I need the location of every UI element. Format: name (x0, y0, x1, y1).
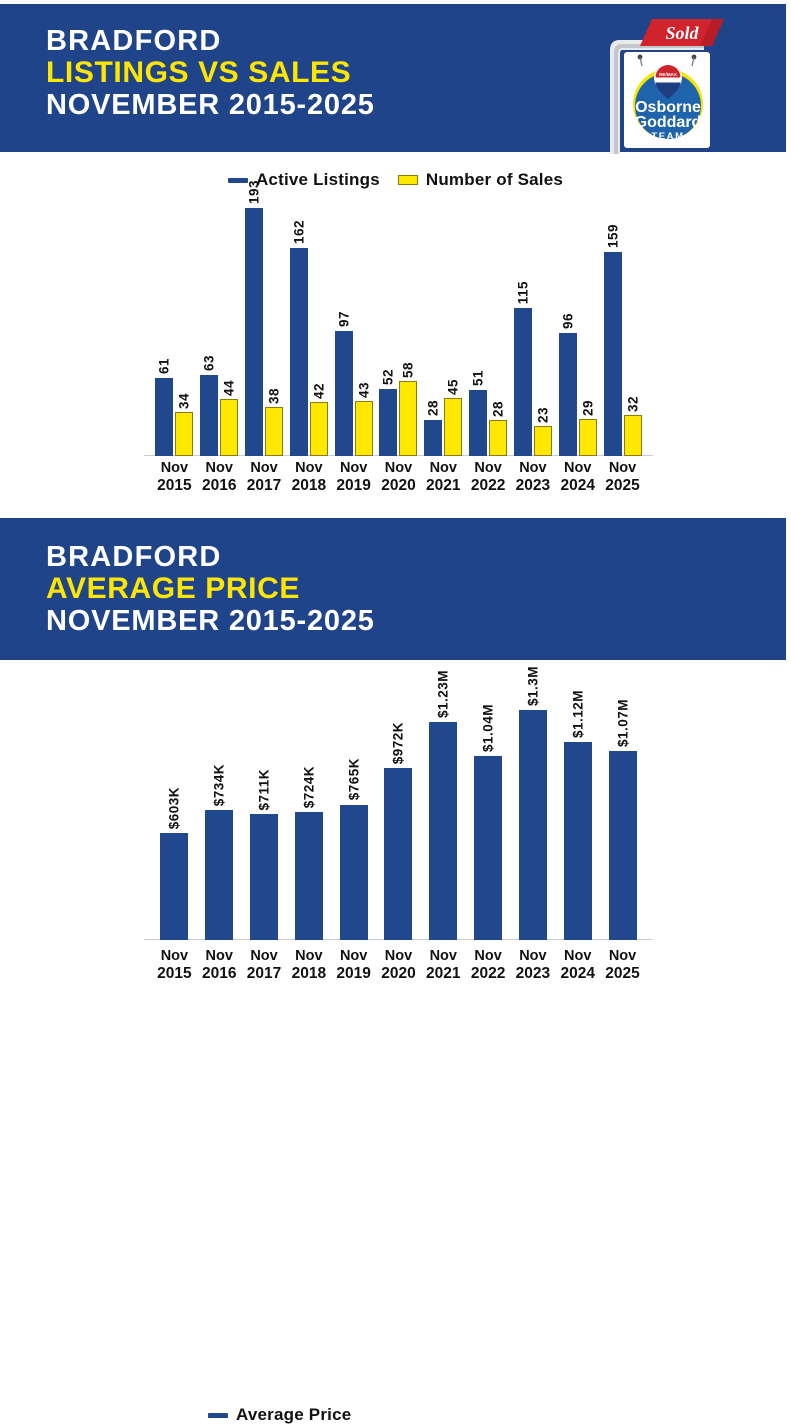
chart1-legend: Active Listings Number of Sales (0, 170, 791, 190)
bar-group: $1.3M (511, 710, 556, 940)
page-title-line1: BRADFORD (46, 26, 375, 57)
bar-group: $734K (197, 710, 242, 940)
bar-primary[interactable]: $1.3M (519, 710, 547, 940)
header-title-group-2: BRADFORD AVERAGE PRICE NOVEMBER 2015-202… (46, 542, 375, 637)
x-axis-tick: Nov2019 (331, 460, 376, 495)
bar-sales[interactable]: 23 (534, 426, 552, 456)
bar-sales[interactable]: 29 (579, 419, 597, 456)
chart1-bar-groups: 6134634419338162429743525828455128115239… (152, 208, 645, 456)
header-title-group-1: BRADFORD LISTINGS VS SALES NOVEMBER 2015… (46, 26, 375, 121)
x-tick-month: Nov (511, 460, 556, 477)
bar-column[interactable]: 159 (604, 208, 622, 456)
x-tick-month: Nov (197, 460, 242, 477)
x-tick-month: Nov (286, 948, 331, 965)
x-tick-month: Nov (286, 460, 331, 477)
x-tick-year: 2020 (376, 965, 421, 983)
bar-column[interactable]: $1.04M (474, 710, 502, 940)
x-tick-year: 2019 (331, 965, 376, 983)
bar-group: $603K (152, 710, 197, 940)
x-tick-year: 2018 (286, 477, 331, 495)
bar-group: 5128 (466, 208, 511, 456)
bar-value-label: 159 (605, 224, 620, 248)
x-tick-year: 2022 (466, 477, 511, 495)
x-axis-tick: Nov2015 (152, 460, 197, 495)
page-title2-line3: NOVEMBER 2015-2025 (46, 606, 375, 637)
chart2-legend: Average Price (208, 1405, 351, 1425)
x-tick-month: Nov (376, 460, 421, 477)
bar-group: 5258 (376, 208, 421, 456)
legend-label-average-price: Average Price (236, 1405, 351, 1425)
bar-value-label: 34 (177, 393, 192, 409)
x-tick-year: 2024 (555, 965, 600, 983)
bar-primary[interactable]: 63 (200, 375, 218, 456)
bar-column[interactable]: 193 (245, 208, 263, 456)
page-title2-line1: BRADFORD (46, 542, 375, 573)
x-tick-year: 2023 (511, 965, 556, 983)
x-tick-month: Nov (242, 948, 287, 965)
bar-column[interactable]: $603K (160, 710, 188, 940)
x-axis-tick: Nov2021 (421, 948, 466, 983)
bar-primary[interactable]: $603K (160, 833, 188, 940)
bar-column[interactable]: $1.07M (609, 710, 637, 940)
bar-value-label: $1.07M (615, 699, 630, 747)
bar-group: 16242 (286, 208, 331, 456)
bar-column[interactable]: 34 (175, 208, 193, 456)
bar-primary[interactable]: $724K (295, 812, 323, 940)
x-tick-year: 2017 (242, 477, 287, 495)
x-axis-tick: Nov2016 (197, 948, 242, 983)
x-tick-month: Nov (466, 948, 511, 965)
bar-primary[interactable]: 96 (559, 333, 577, 456)
bar-value-label: $972K (391, 722, 406, 764)
bar-group: 11523 (511, 208, 556, 456)
bar-sales[interactable]: 28 (489, 420, 507, 456)
bar-column[interactable]: $1.3M (519, 710, 547, 940)
bar-sales[interactable]: 32 (624, 415, 642, 456)
x-tick-month: Nov (197, 948, 242, 965)
legend-swatch-line-icon (208, 1413, 228, 1418)
x-axis-tick: Nov2017 (242, 460, 287, 495)
bar-value-label: 97 (336, 311, 351, 327)
bar-primary[interactable]: 159 (604, 252, 622, 456)
chart-listings-vs-sales: Active Listings Number of Sales 61346344… (0, 152, 791, 510)
bar-column[interactable]: 29 (579, 208, 597, 456)
bar-primary[interactable]: $734K (205, 810, 233, 940)
bar-primary[interactable]: $1.04M (474, 756, 502, 940)
bar-value-label: 63 (202, 355, 217, 371)
x-axis-tick: Nov2017 (242, 948, 287, 983)
bar-value-label: 162 (291, 220, 306, 244)
bar-sales[interactable]: 43 (355, 401, 373, 456)
bar-sales[interactable]: 34 (175, 412, 193, 456)
legend-label-number-of-sales: Number of Sales (426, 170, 563, 190)
x-tick-year: 2016 (197, 477, 242, 495)
chart2-plot-area: $603K$734K$711K$724K$765K$972K$1.23M$1.0… (0, 710, 791, 940)
sold-label: Sold (665, 23, 699, 43)
bar-value-label: $724K (301, 766, 316, 808)
x-tick-month: Nov (511, 948, 556, 965)
bar-column[interactable]: $1.12M (564, 710, 592, 940)
x-axis-tick: Nov2024 (555, 460, 600, 495)
x-axis-tick: Nov2015 (152, 948, 197, 983)
logo-brand-line2: Goddard (635, 114, 702, 131)
bar-primary[interactable]: 51 (469, 390, 487, 456)
bar-value-label: 193 (247, 180, 262, 204)
bar-sales[interactable]: 42 (310, 402, 328, 456)
chart1-x-axis-labels: Nov2015Nov2016Nov2017Nov2018Nov2019Nov20… (152, 460, 645, 495)
bar-column[interactable]: 115 (514, 208, 532, 456)
x-tick-month: Nov (242, 460, 287, 477)
x-tick-year: 2015 (152, 965, 197, 983)
page-title-line3: NOVEMBER 2015-2025 (46, 90, 375, 121)
legend-swatch-box-icon (398, 175, 418, 185)
bar-value-label: 28 (491, 401, 506, 417)
header-band-listings: BRADFORD LISTINGS VS SALES NOVEMBER 2015… (0, 4, 786, 152)
x-tick-year: 2021 (421, 965, 466, 983)
chart2-x-axis-labels: Nov2015Nov2016Nov2017Nov2018Nov2019Nov20… (152, 948, 645, 983)
x-axis-tick: Nov2018 (286, 460, 331, 495)
legend-item-number-of-sales[interactable]: Number of Sales (398, 170, 563, 190)
x-tick-month: Nov (152, 948, 197, 965)
bar-group: 2845 (421, 208, 466, 456)
x-tick-month: Nov (600, 948, 645, 965)
bar-value-label: $1.23M (436, 670, 451, 718)
bar-column[interactable]: 28 (489, 208, 507, 456)
bar-column[interactable]: $724K (295, 710, 323, 940)
osborne-goddard-logo: Sold RE/MAX Osborne Goddard TEAM (600, 16, 730, 156)
bar-column[interactable]: 43 (355, 208, 373, 456)
x-tick-year: 2018 (286, 965, 331, 983)
x-tick-year: 2015 (152, 477, 197, 495)
x-axis-tick: Nov2019 (331, 948, 376, 983)
bar-value-label: 58 (401, 362, 416, 378)
x-axis-tick: Nov2022 (466, 948, 511, 983)
bar-group: $1.12M (555, 710, 600, 940)
bar-column[interactable]: 97 (335, 208, 353, 456)
bar-value-label: $603K (167, 787, 182, 829)
bar-primary[interactable]: $972K (384, 768, 412, 940)
bar-primary[interactable]: 193 (245, 208, 263, 456)
x-tick-year: 2019 (331, 477, 376, 495)
chart2-bar-groups: $603K$734K$711K$724K$765K$972K$1.23M$1.0… (152, 710, 645, 940)
x-tick-year: 2025 (600, 477, 645, 495)
bar-value-label: $734K (212, 764, 227, 806)
bar-column[interactable]: $1.23M (429, 710, 457, 940)
bar-value-label: 115 (515, 281, 530, 304)
bar-group: $724K (286, 710, 331, 940)
bar-primary[interactable]: $765K (340, 805, 368, 940)
bar-sales[interactable]: 38 (265, 407, 283, 456)
bar-value-label: 42 (311, 383, 326, 399)
bar-primary[interactable]: 52 (379, 389, 397, 456)
bar-primary[interactable]: 162 (290, 248, 308, 456)
bar-value-label: 61 (157, 358, 172, 374)
legend-swatch-line-icon (228, 178, 248, 183)
x-axis-tick: Nov2025 (600, 460, 645, 495)
bar-primary[interactable]: 97 (335, 331, 353, 456)
bar-value-label: 52 (381, 369, 396, 385)
legend-label-active-listings: Active Listings (256, 170, 380, 190)
logo-brand-line3: TEAM (651, 131, 684, 142)
bar-primary[interactable]: $1.23M (429, 722, 457, 940)
bar-value-label: $765K (346, 758, 361, 800)
bar-value-label: 44 (222, 380, 237, 396)
x-tick-year: 2022 (466, 965, 511, 983)
header-band-average-price: BRADFORD AVERAGE PRICE NOVEMBER 2015-202… (0, 518, 786, 660)
legend-item-average-price[interactable]: Average Price (208, 1405, 351, 1425)
bar-value-label: 32 (625, 396, 640, 412)
x-tick-month: Nov (555, 460, 600, 477)
bar-primary[interactable]: 28 (424, 420, 442, 456)
x-axis-tick: Nov2025 (600, 948, 645, 983)
bar-column[interactable]: 63 (200, 208, 218, 456)
x-tick-month: Nov (600, 460, 645, 477)
chart1-plot-area: 6134634419338162429743525828455128115239… (0, 208, 791, 456)
bar-value-label: $1.12M (570, 690, 585, 738)
bar-column[interactable]: 51 (469, 208, 487, 456)
x-axis-tick: Nov2023 (511, 948, 556, 983)
bar-group: 6134 (152, 208, 197, 456)
bar-value-label: 45 (446, 379, 461, 395)
x-tick-month: Nov (331, 948, 376, 965)
x-axis-tick: Nov2020 (376, 460, 421, 495)
page-title2-line2: AVERAGE PRICE (46, 573, 375, 605)
bar-group: $1.23M (421, 710, 466, 940)
x-tick-year: 2021 (421, 477, 466, 495)
bar-group: $1.07M (600, 710, 645, 940)
bar-group: $972K (376, 710, 421, 940)
bar-column[interactable]: $972K (384, 710, 412, 940)
x-tick-month: Nov (376, 948, 421, 965)
bar-primary[interactable]: $711K (250, 814, 278, 940)
remax-label: RE/MAX (659, 72, 678, 77)
x-axis-tick: Nov2020 (376, 948, 421, 983)
bar-primary[interactable]: $1.07M (609, 751, 637, 940)
x-axis-tick: Nov2021 (421, 460, 466, 495)
x-tick-month: Nov (152, 460, 197, 477)
x-axis-tick: Nov2016 (197, 460, 242, 495)
bar-group: $1.04M (466, 710, 511, 940)
bar-sales[interactable]: 58 (399, 381, 417, 456)
bar-group: 15932 (600, 208, 645, 456)
bar-sales[interactable]: 44 (220, 399, 238, 456)
x-tick-year: 2023 (511, 477, 556, 495)
bar-value-label: $711K (257, 769, 272, 811)
bar-column[interactable]: $711K (250, 710, 278, 940)
bar-value-label: 28 (426, 400, 441, 416)
x-tick-month: Nov (421, 460, 466, 477)
bar-group: $765K (331, 710, 376, 940)
bar-group: 9743 (331, 208, 376, 456)
x-tick-year: 2020 (376, 477, 421, 495)
x-tick-year: 2025 (600, 965, 645, 983)
bar-column[interactable]: $765K (340, 710, 368, 940)
x-tick-month: Nov (555, 948, 600, 965)
bar-column[interactable]: 52 (379, 208, 397, 456)
bar-value-label: 38 (267, 388, 282, 404)
x-axis-tick: Nov2023 (511, 460, 556, 495)
bar-value-label: 51 (471, 370, 486, 386)
bar-column[interactable]: 61 (155, 208, 173, 456)
x-tick-year: 2024 (555, 477, 600, 495)
x-tick-month: Nov (466, 460, 511, 477)
bar-value-label: 96 (560, 313, 575, 329)
chart-average-price: Average Price $603K$734K$711K$724K$765K$… (0, 660, 791, 1024)
bar-column[interactable]: 58 (399, 208, 417, 456)
bar-column[interactable]: 45 (444, 208, 462, 456)
bar-group: 9629 (555, 208, 600, 456)
page-title-line2: LISTINGS VS SALES (46, 57, 375, 89)
bar-column[interactable]: 32 (624, 208, 642, 456)
bar-sales[interactable]: 45 (444, 398, 462, 456)
x-tick-year: 2016 (197, 965, 242, 983)
bar-primary[interactable]: 61 (155, 378, 173, 456)
bar-primary[interactable]: 115 (514, 308, 532, 456)
x-tick-month: Nov (421, 948, 466, 965)
x-axis-tick: Nov2022 (466, 460, 511, 495)
bar-group: 6344 (197, 208, 242, 456)
bar-group: $711K (242, 710, 287, 940)
bar-value-label: 23 (535, 407, 550, 423)
bar-value-label: 29 (580, 400, 595, 416)
bar-column[interactable]: 42 (310, 208, 328, 456)
x-tick-month: Nov (331, 460, 376, 477)
bar-value-label: $1.04M (481, 704, 496, 752)
bar-column[interactable]: 96 (559, 208, 577, 456)
bar-column[interactable]: 44 (220, 208, 238, 456)
bar-group: 19338 (242, 208, 287, 456)
bar-primary[interactable]: $1.12M (564, 742, 592, 940)
bar-column[interactable]: $734K (205, 710, 233, 940)
x-axis-tick: Nov2024 (555, 948, 600, 983)
bar-column[interactable]: 28 (424, 208, 442, 456)
bar-value-label: 43 (356, 382, 371, 398)
sold-sign-icon: Sold RE/MAX Osborne Goddard TEAM (600, 16, 730, 156)
bar-column[interactable]: 162 (290, 208, 308, 456)
bar-column[interactable]: 23 (534, 208, 552, 456)
bar-value-label: $1.3M (525, 666, 540, 706)
x-tick-year: 2017 (242, 965, 287, 983)
bar-column[interactable]: 38 (265, 208, 283, 456)
x-axis-tick: Nov2018 (286, 948, 331, 983)
